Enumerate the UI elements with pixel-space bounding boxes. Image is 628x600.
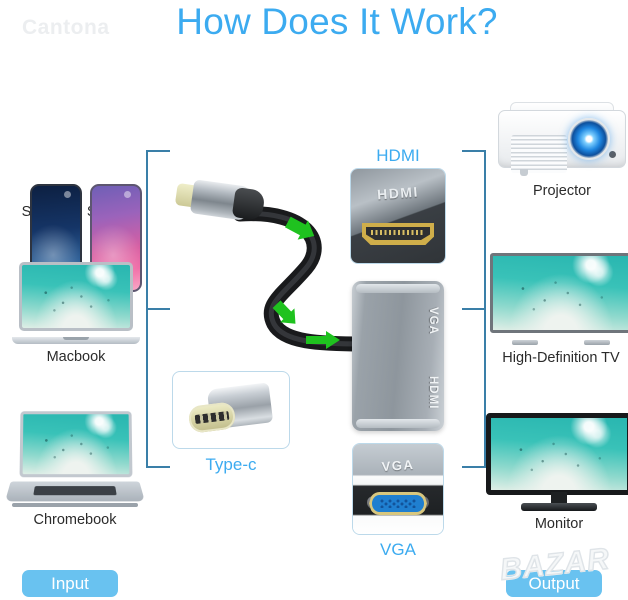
adapter-hdmi-label: HDMI [427, 376, 439, 409]
infographic-canvas: Cantona How Does It Work? Samsung S8/S9 … [0, 0, 628, 600]
usb-c-connector-icon [172, 371, 290, 449]
adapter-body: VGA HDMI [352, 281, 444, 431]
input-device-macbook: Macbook [12, 262, 140, 366]
projector-icon [492, 96, 628, 180]
vga-port-icon: VGA [352, 443, 444, 535]
output-device-hdtv: High-Definition TV [490, 253, 628, 367]
monitor-icon [486, 413, 628, 513]
hdmi-port-icon: HDMI [350, 168, 446, 264]
output-device-label: High-Definition TV [490, 350, 628, 367]
output-device-projector: Projector [492, 96, 628, 200]
input-device-chromebook: Chromebook [6, 411, 144, 529]
input-device-samsung: Samsung S8/S9 [10, 92, 138, 221]
chromebook-icon [6, 411, 144, 509]
type-c-callout-label: Type-c [172, 455, 290, 475]
vga-port-text: VGA [381, 457, 415, 474]
output-device-label: Monitor [486, 516, 628, 533]
input-bracket [146, 150, 170, 468]
hdmi-port-text: HDMI [377, 184, 420, 203]
input-device-label: Chromebook [6, 512, 144, 529]
flow-arrow-3-icon [306, 331, 340, 349]
output-bracket [462, 150, 486, 468]
television-icon [490, 253, 628, 347]
adapter-vga-label: VGA [427, 307, 439, 335]
hdmi-callout-label: HDMI [348, 146, 448, 166]
vga-callout-label: VGA [350, 540, 446, 560]
page-title: How Does It Work? [0, 0, 628, 44]
output-device-monitor: Monitor [486, 413, 628, 533]
input-device-label: Macbook [12, 349, 140, 366]
laptop-icon [12, 262, 140, 346]
output-device-label: Projector [492, 183, 628, 200]
input-badge: Input [22, 570, 118, 597]
